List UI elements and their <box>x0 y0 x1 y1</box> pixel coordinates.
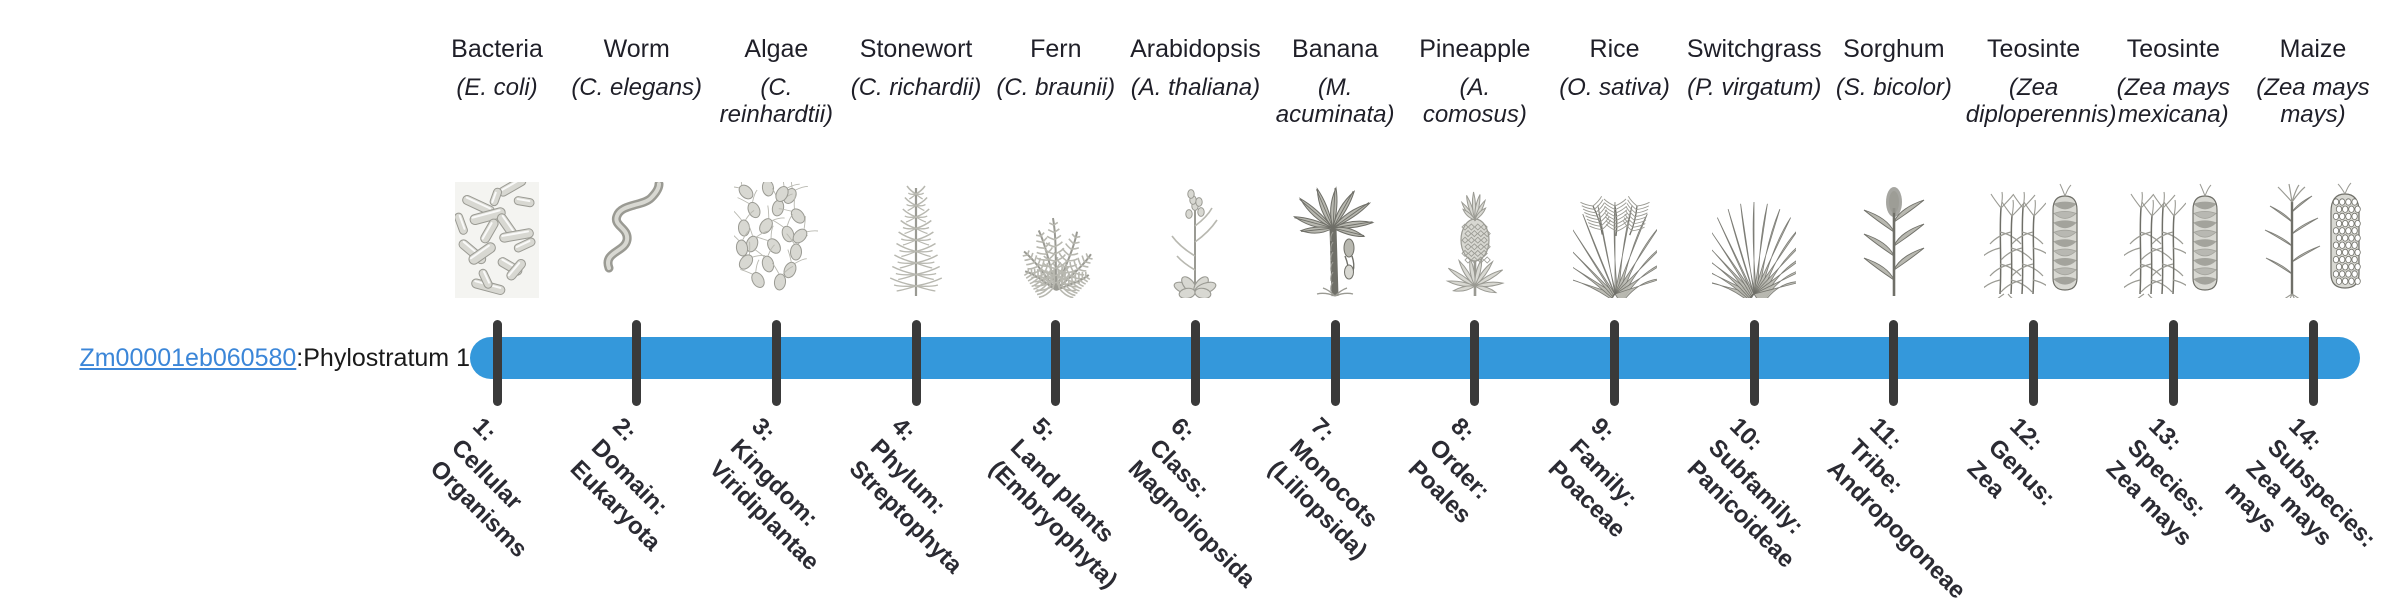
gene-phylostratum-value: Phylostratum 1 <box>303 344 470 373</box>
gene-phylostratum-label: Zm00001eb060580: Phylostratum 1 <box>40 337 470 379</box>
gene-id-link[interactable]: Zm00001eb060580 <box>79 344 296 373</box>
phylostratum-label: 10: Subfamily: Panicoideae <box>1681 412 1844 575</box>
phylostratum-label: 5: Land plants (Embryophyta) <box>982 412 1165 595</box>
gene-label-separator: : <box>296 344 303 373</box>
phylostratum-label: 14: Subspecies: Zea mays mays <box>2218 412 2400 597</box>
phylostratum-label: 11: Tribe: Andropogoneae <box>1820 412 2014 606</box>
phylostratum-label: 6: Class: Magnoliopsida <box>1122 412 1304 594</box>
phylostratum-labels-layer: 1: Cellular Organisms2: Domain: Eukaryot… <box>470 0 2360 580</box>
phylostratum-label: 13: Species: Zea mays <box>2100 412 2241 553</box>
phylostratum-label: 8: Order: Poales <box>1401 412 1519 530</box>
phylostratum-label: 1: Cellular Organisms <box>423 412 575 564</box>
phylostratum-label: 9: Family: Poaceae <box>1541 412 1674 545</box>
phylostratum-label: 3: Kingdom: Viridiplantae <box>703 412 868 577</box>
phylostratum-label: 2: Domain: Eukaryota <box>563 412 709 558</box>
phylostratum-label: 4: Phylum: Streptophyta <box>842 412 1010 580</box>
